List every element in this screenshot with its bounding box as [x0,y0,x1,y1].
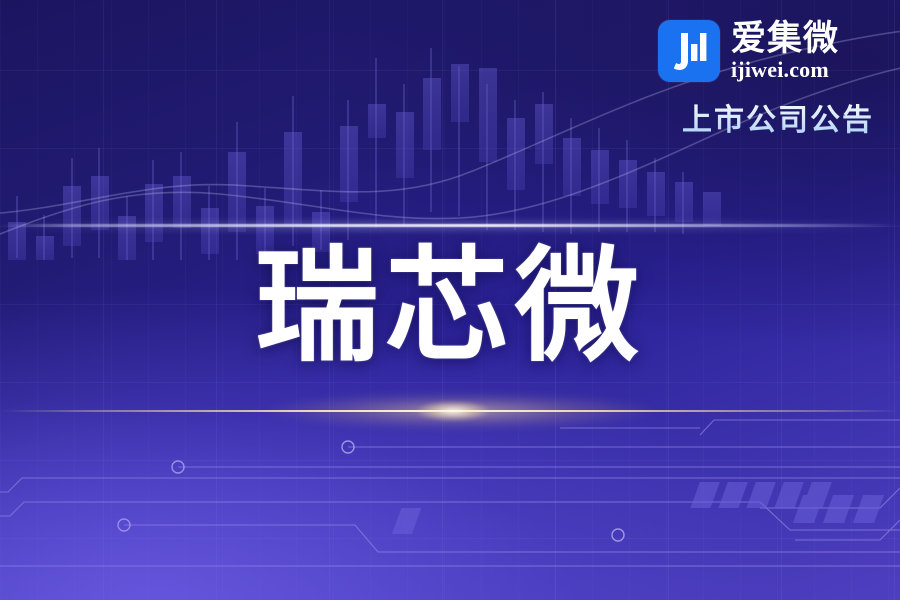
category-label: 上市公司公告 [658,95,874,139]
brand-name-cn: 爱集微 [731,21,839,58]
horizontal-divider-line [0,224,900,227]
brand-name-group: 爱集微 ijiwei.com [731,21,839,81]
brand-logo-block[interactable]: 爱集微 ijiwei.com 上市公司公告 [658,20,874,139]
brand-logo-row: 爱集微 ijiwei.com [658,20,874,82]
announcement-banner: 爱集微 ijiwei.com 上市公司公告 瑞芯微 [0,0,900,600]
company-title: 瑞芯微 [0,236,900,379]
ijiwei-bars-logo-icon [658,20,720,82]
brand-name-en: ijiwei.com [731,59,839,81]
light-flare-core [398,396,508,426]
